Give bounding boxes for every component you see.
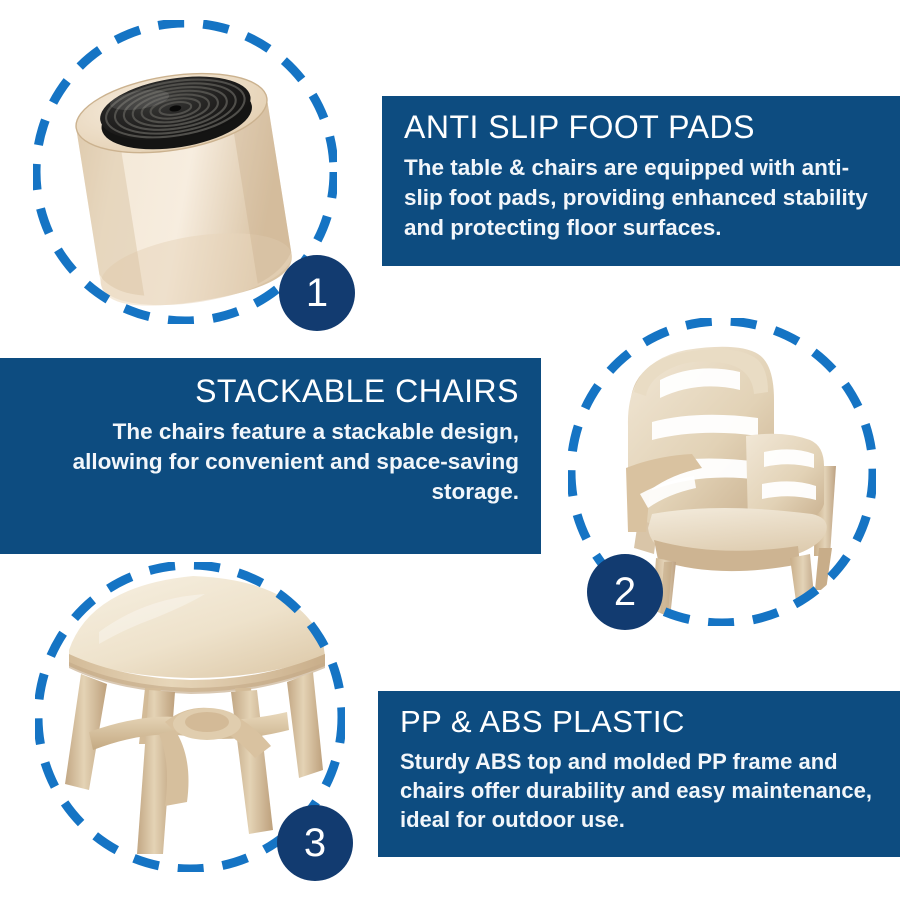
feature-body-1: The table & chairs are equipped with ant… (404, 153, 878, 242)
step-badge-2-number: 2 (614, 572, 636, 612)
feature-body-2: The chairs feature a stackable design, a… (22, 417, 519, 506)
feature-title-2: STACKABLE CHAIRS (22, 374, 519, 409)
feature-panel-1: ANTI SLIP FOOT PADS The table & chairs a… (382, 96, 900, 266)
step-badge-2: 2 (587, 554, 663, 630)
infographic-canvas: 1 ANTI SLIP FOOT PADS The table & chairs… (0, 0, 900, 900)
feature-title-3: PP & ABS PLASTIC (400, 705, 878, 739)
feature-body-3: Sturdy ABS top and molded PP frame and c… (400, 747, 878, 834)
step-badge-1: 1 (279, 255, 355, 331)
feature-panel-2: STACKABLE CHAIRS The chairs feature a st… (0, 358, 541, 554)
step-badge-1-number: 1 (306, 273, 328, 313)
feature-panel-3: PP & ABS PLASTIC Sturdy ABS top and mold… (378, 691, 900, 857)
step-badge-3-number: 3 (304, 823, 326, 863)
feature-title-1: ANTI SLIP FOOT PADS (404, 110, 878, 145)
step-badge-3: 3 (277, 805, 353, 881)
